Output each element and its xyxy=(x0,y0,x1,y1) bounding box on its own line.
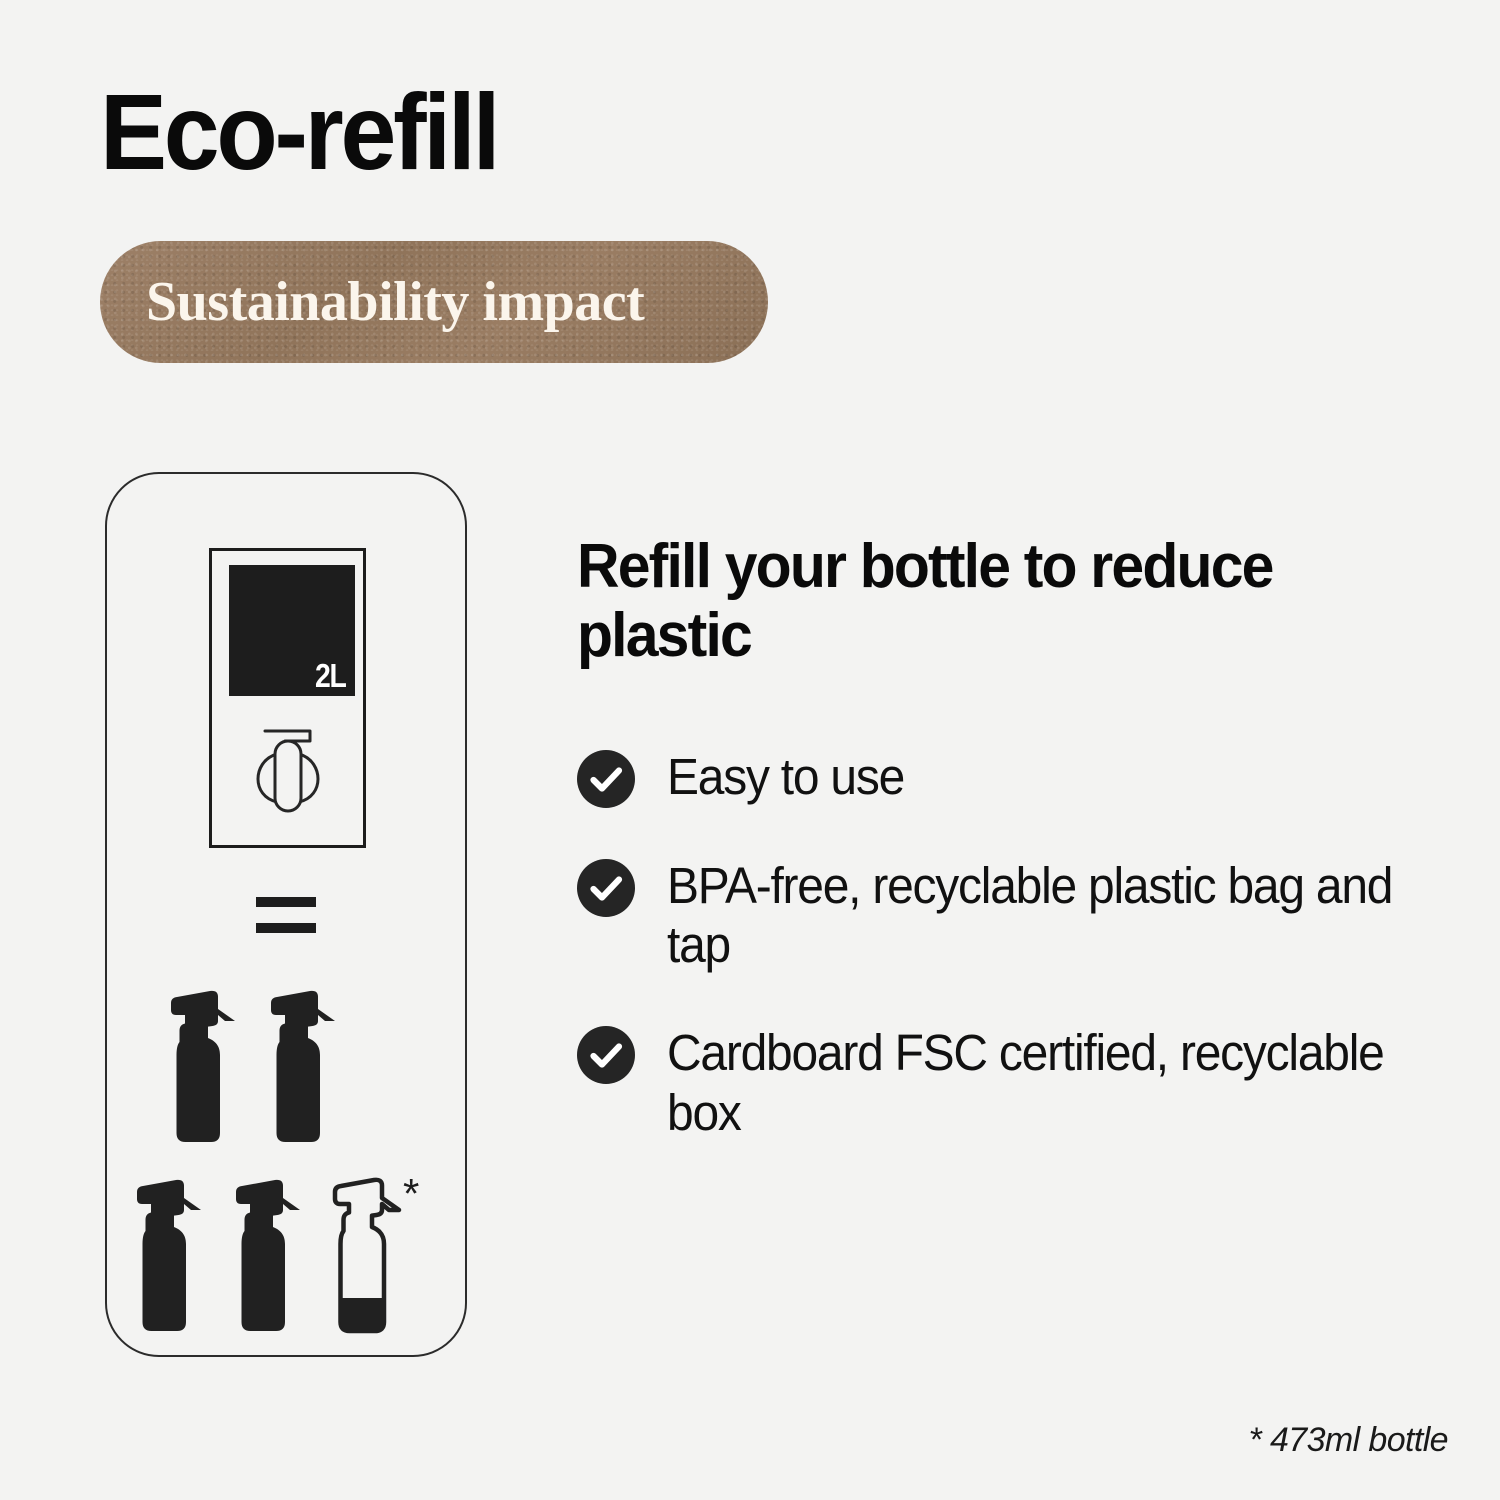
feature-label: Easy to use xyxy=(667,747,904,807)
spray-bottle-icon xyxy=(228,1174,308,1342)
check-circle-icon xyxy=(577,750,635,808)
refill-carton-graphic: 2L xyxy=(209,548,366,848)
spray-bottle-icon xyxy=(129,1174,209,1342)
page-title: Eco-refill xyxy=(100,78,497,186)
section-heading: Refill your bottle to reduce plastic xyxy=(577,533,1299,671)
list-item: BPA-free, recyclable plastic bag and tap xyxy=(577,856,1457,975)
list-item: Easy to use xyxy=(577,747,1457,808)
check-circle-icon xyxy=(577,1026,635,1084)
spray-bottle-icon xyxy=(263,985,343,1153)
bottle-row-bottom xyxy=(129,1174,407,1342)
equals-symbol xyxy=(256,897,316,933)
content-column: Refill your bottle to reduce plastic Eas… xyxy=(577,533,1457,1142)
feature-label: BPA-free, recyclable plastic bag and tap xyxy=(667,856,1410,975)
list-item: Cardboard FSC certified, recyclable box xyxy=(577,1023,1457,1142)
feature-label: Cardboard FSC certified, recyclable box xyxy=(667,1023,1410,1142)
feature-list: Easy to use BPA-free, recyclable plastic… xyxy=(577,747,1457,1143)
equals-bar-top xyxy=(256,897,316,907)
tap-spout-icon xyxy=(252,727,324,820)
spray-bottle-icon xyxy=(163,985,243,1153)
status-badge: Sustainability impact xyxy=(100,241,768,363)
illustration-panel: 2L xyxy=(105,472,467,1357)
status-badge-label: Sustainability impact xyxy=(146,274,644,330)
bottle-row-top xyxy=(163,985,343,1153)
check-circle-icon xyxy=(577,859,635,917)
footnote-asterisk: * xyxy=(403,1173,419,1215)
spray-bottle-outline-icon xyxy=(327,1174,407,1342)
carton-label-panel: 2L xyxy=(229,565,355,696)
carton-volume-label: 2L xyxy=(315,659,346,692)
footnote-text: * 473ml bottle xyxy=(1248,1421,1448,1460)
equals-bar-bottom xyxy=(256,923,316,933)
